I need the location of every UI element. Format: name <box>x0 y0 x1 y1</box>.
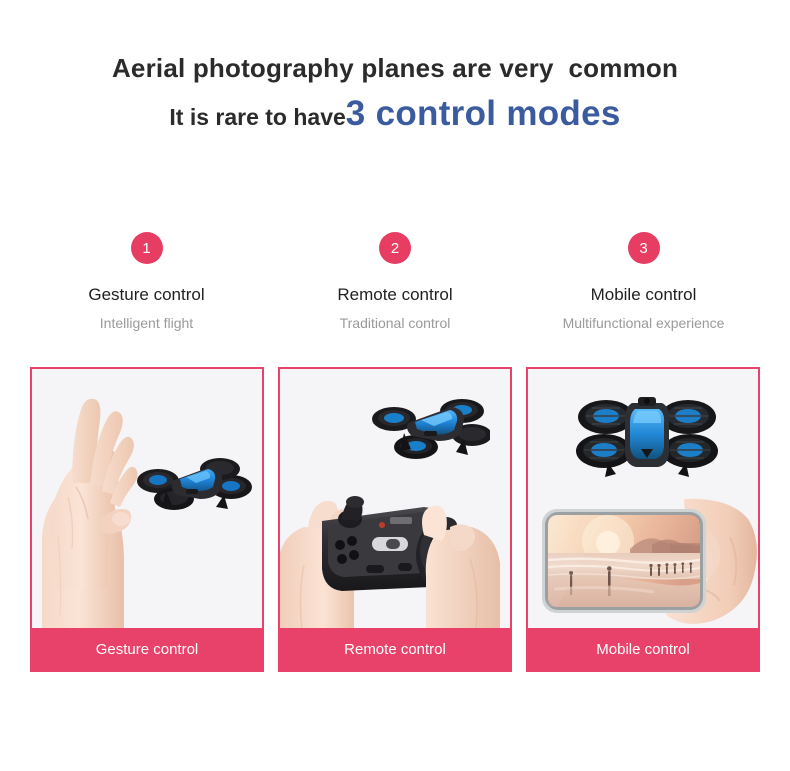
hands-holding-remote-controller-photo <box>280 469 504 628</box>
step-badge-2: 2 <box>379 232 411 264</box>
card-media-remote <box>280 369 510 628</box>
drone-photo <box>572 389 722 485</box>
card-caption-remote: Remote control <box>280 628 510 670</box>
headline-line-1: Aerial photography planes are very commo… <box>0 52 790 85</box>
card-caption-gesture: Gesture control <box>32 628 262 670</box>
card-gesture-control: Gesture control <box>30 367 264 672</box>
steps-row: 1 Gesture control Intelligent flight 2 R… <box>30 232 760 331</box>
step-column-remote: 2 Remote control Traditional control <box>279 232 512 331</box>
card-mobile-control: Mobile control <box>526 367 760 672</box>
headline-accent-text: 3 control modes <box>346 94 621 133</box>
card-media-gesture <box>32 369 262 628</box>
headline-block: Aerial photography planes are very commo… <box>0 0 790 135</box>
step-subtitle-3: Multifunctional experience <box>563 315 725 331</box>
step-subtitle-2: Traditional control <box>340 315 451 331</box>
drone-photo <box>368 389 490 467</box>
step-title-2: Remote control <box>337 285 452 305</box>
headline-plain-text: It is rare to have <box>169 104 345 130</box>
cards-row: Gesture control <box>30 367 760 672</box>
step-badge-1: 1 <box>131 232 163 264</box>
card-caption-mobile: Mobile control <box>528 628 758 670</box>
step-subtitle-1: Intelligent flight <box>100 315 193 331</box>
card-remote-control: Remote control <box>278 367 512 672</box>
step-column-mobile: 3 Mobile control Multifunctional experie… <box>527 232 760 331</box>
card-media-mobile <box>528 369 758 628</box>
step-title-3: Mobile control <box>591 285 697 305</box>
step-title-1: Gesture control <box>88 285 204 305</box>
drone-photo <box>136 447 254 521</box>
headline-line-2: It is rare to have3 control modes <box>0 93 790 135</box>
hand-holding-phone-beach-sunset-photo <box>534 497 758 628</box>
step-column-gesture: 1 Gesture control Intelligent flight <box>30 232 263 331</box>
step-badge-3: 3 <box>628 232 660 264</box>
